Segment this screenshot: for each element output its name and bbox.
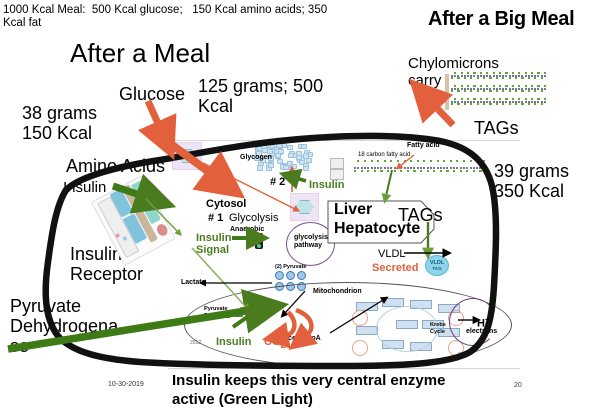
tags-inner-label: TAGs	[398, 205, 443, 225]
amino-acids-label: Amino Acids	[66, 156, 165, 176]
insulin-label-bottom: Insulin	[216, 336, 251, 348]
traffic-light-icon-1	[255, 233, 263, 249]
pyruvate-dehydrogenase-label: Pyruvate Dehydrogena se	[10, 296, 138, 356]
glucose-amount: 125 grams; 500 Kcal	[198, 76, 348, 116]
tags-label-right: TAGs	[474, 118, 519, 138]
mitochondrion-label: Mitochondrion	[313, 288, 362, 296]
step-1-label: Glycolysis	[229, 212, 279, 224]
lactate-label: Lactate	[181, 279, 206, 287]
panel-bottom-rule	[168, 368, 520, 369]
vldl-bubble-bottom-text: TAG	[432, 266, 441, 271]
liver-label: Liver	[334, 201, 372, 219]
chylomicron-tag-structure	[437, 72, 557, 114]
secreted-label: Secreted	[372, 262, 418, 274]
cytosol-label: Cytosol	[206, 198, 246, 210]
electrons-label: electrons	[466, 328, 497, 336]
glucose-molecule-icon-1	[172, 142, 202, 170]
traffic-light-icon-2	[252, 306, 260, 324]
insulin-signal-label: Insulin Signal	[196, 232, 256, 257]
glucose-molecule-icon-2	[290, 193, 319, 221]
acetyl-coa-label: Acetyl-CoA	[283, 335, 321, 343]
page-title-after-a-big-meal: After a Big Meal	[428, 8, 574, 30]
header-kcal-breakdown: 1000 Kcal Meal: 500 Kcal glucose; 150 Kc…	[3, 4, 348, 30]
step-1-number: # 1	[208, 212, 223, 224]
year-mark: 2012	[190, 341, 201, 347]
page-title-after-a-meal: After a Meal	[70, 39, 210, 68]
step-2-insulin-label: Insulin	[309, 179, 344, 191]
fatty-acid-chain-icon	[330, 158, 490, 180]
vldl-label: VLDL	[378, 248, 406, 260]
fatty-acid-label: Fatty acid	[407, 142, 440, 150]
pyruvate-dehydrogenase-inner-label: Pyruvate Dehydrogenas	[204, 306, 254, 320]
tags-amount: 39 grams 350 Kcal	[494, 161, 600, 201]
glucose-label: Glucose	[119, 84, 185, 104]
slide-number: 20	[514, 382, 522, 390]
glycogen-label: Glycogen	[240, 154, 272, 162]
pyruvate-label: (2) Pyruvate	[275, 264, 307, 270]
footer-caption: Insulin keeps this very central enzyme a…	[172, 372, 492, 410]
step-2-number: # 2	[270, 176, 285, 188]
panel-top-rule	[168, 140, 520, 141]
insulin-label-left: Insulin	[63, 180, 106, 197]
amino-acid-amount: 38 grams 150 Kcal	[22, 103, 132, 143]
footer-date: 10-30-2019	[108, 381, 144, 389]
vldl-particle-icon: VLDL TAG	[425, 255, 449, 276]
page-mark: 23	[458, 353, 464, 359]
